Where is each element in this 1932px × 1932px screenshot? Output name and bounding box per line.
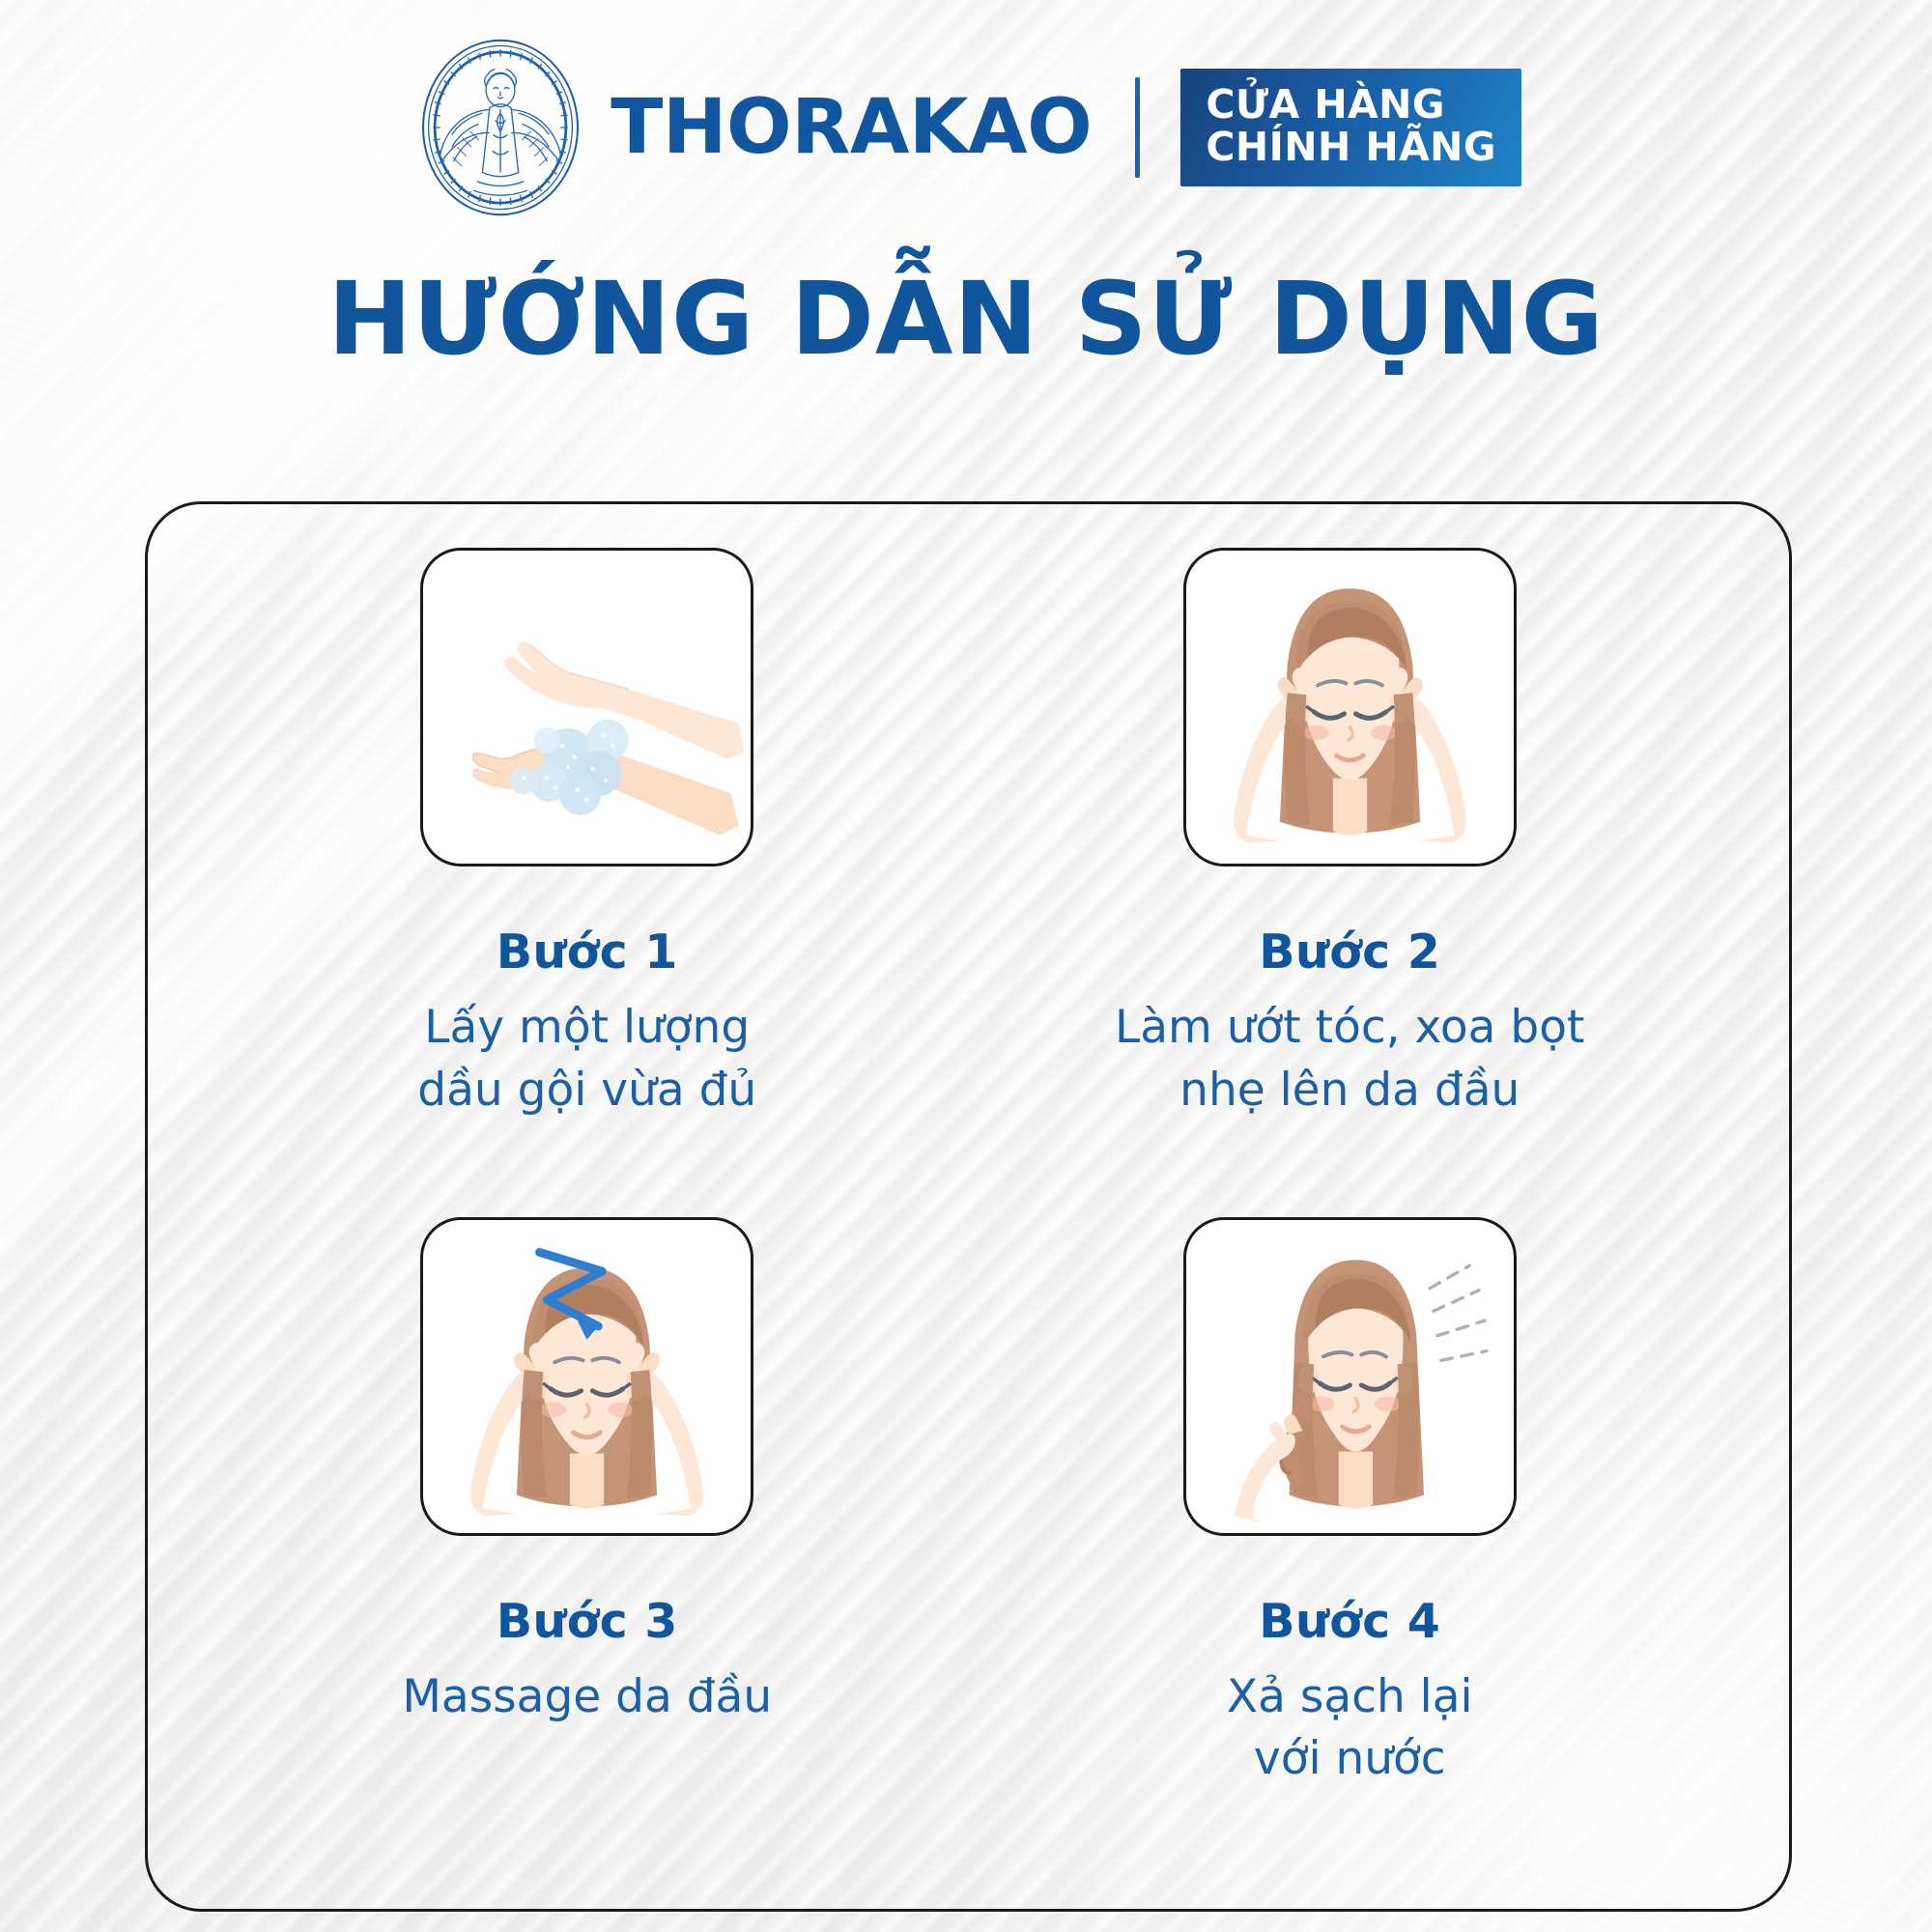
steps-panel: Bước 1 Lấy một lượng dầu gội vừa đủ [145,501,1792,1912]
official-store-badge: CỬA HÀNG CHÍNH HÃNG [1180,69,1521,186]
step-card: Bước 2 Làm ướt tóc, xoa bọt nhẹ lên da đ… [969,548,1732,1217]
step-card: Bước 4 Xả sạch lại với nước [969,1217,1732,1887]
step-description: Massage da đầu [402,1666,772,1729]
badge-line-2: CHÍNH HÃNG [1206,127,1496,169]
page-title: HƯỚNG DẪN SỬ DỤNG [0,263,1932,375]
brand-header: THORAKAO CỬA HÀNG CHÍNH HÃNG [0,41,1932,214]
brand-wordmark: THORAKAO [611,90,1092,165]
step-description: Xả sạch lại với nước [1227,1666,1473,1792]
step-label: Bước 1 [497,924,678,980]
step-card: Bước 3 Massage da đầu [206,1217,969,1887]
step-label: Bước 2 [1259,924,1440,980]
step-description: Làm ướt tóc, xoa bọt nhẹ lên da đầu [1115,997,1584,1122]
hands-with-shampoo-foam-icon [420,548,753,867]
step-description: Lấy một lượng dầu gội vừa đủ [417,997,756,1122]
woman-rinsing-hair-with-water-icon [1183,1217,1517,1536]
step-label: Bước 3 [497,1594,678,1649]
woman-massaging-scalp-icon [420,1217,753,1536]
steps-grid: Bước 1 Lấy một lượng dầu gội vừa đủ [148,504,1789,1909]
step-card: Bước 1 Lấy một lượng dầu gội vừa đủ [206,548,969,1217]
badge-line-1: CỬA HÀNG [1206,84,1496,127]
instruction-poster: THORAKAO CỬA HÀNG CHÍNH HÃNG HƯỚNG DẪN S… [0,0,1932,1932]
step-label: Bước 4 [1259,1594,1440,1649]
thorakao-angel-seal-icon [411,38,590,217]
brand-divider [1135,77,1140,178]
woman-wetting-hair-icon [1183,548,1517,867]
